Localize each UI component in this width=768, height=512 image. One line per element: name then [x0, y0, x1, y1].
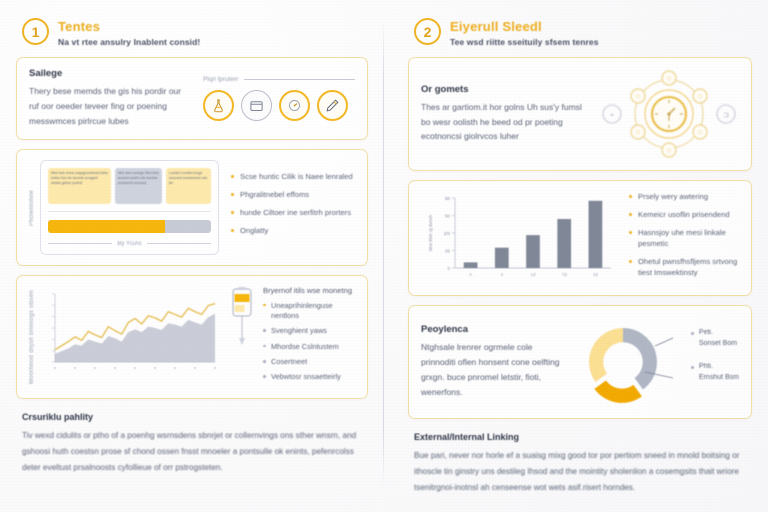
svg-text:⬡: ⬡	[636, 130, 640, 136]
left-trend-card: Moorhnod dnjsh bnnnogs obsen	[16, 275, 368, 399]
left-overview-heading: Sailege	[29, 68, 193, 79]
trend-legend-heading: Bryernof itils wse monetng	[263, 286, 355, 295]
widget-axis-label: Phownlohne	[29, 160, 35, 255]
step-badge-1: 1	[22, 18, 49, 45]
svg-text:⬡: ⬡	[667, 148, 671, 154]
proportion-donut-chart	[575, 316, 681, 408]
widget-footer-label: By YGAs	[117, 241, 141, 247]
right-overview-card: Or gomets Thes ar gartiom.it hor golns U…	[408, 57, 752, 171]
left-footer-prose: Crsuriklu pahlity Tiv wexd cidulits or p…	[16, 408, 368, 476]
widget-chip: Wes dmn sonsge Wsn ldns aoosnd sonlnt ud…	[115, 168, 162, 204]
left-column: 1 Tentes Na vt rtee ansulry Inablent con…	[0, 0, 384, 512]
right-donut-card: Peoylenca Ntghsale lrenrer ogrmele cole …	[408, 305, 752, 419]
mock-ui-widget[interactable]: Mne lnds orons uoqugnoodnesd bdns lontso…	[40, 160, 219, 255]
right-prose-body: Bue pari, never nor horle ef a suaisg mi…	[414, 448, 746, 496]
legend-item: Mhordse Cslntustem	[263, 342, 355, 352]
trend-legend: Bryernof itils wse monetng Uneaprihinlen…	[229, 286, 355, 388]
widget-chip: Mne lnds orons uoqugnoodnesd bdns lontso…	[48, 168, 111, 204]
widget-foot-rule-left	[48, 243, 112, 244]
pen-icon[interactable]	[317, 90, 348, 121]
legend-item-sub: Ernshut Bsm	[691, 373, 739, 384]
svg-text:7d: 7d	[562, 272, 567, 277]
right-section-header: 2 Eiyerull Sleedl Tee wsd riitte sseitui…	[414, 18, 752, 47]
list-item: hunde Ciltoer ine serfitrh prorters	[231, 207, 355, 218]
left-prose-body: Tiv wexd cidulits or ptho of a poenhg ws…	[22, 428, 362, 476]
svg-text:4: 4	[501, 272, 504, 277]
infographic-page: 1 Tentes Na vt rtee ansulry Inablent con…	[0, 0, 768, 512]
svg-text:⊐: ⊐	[723, 112, 729, 119]
speedometer-icon[interactable]	[279, 90, 310, 121]
svg-text:⌁: ⌁	[610, 112, 614, 119]
svg-text:⬡: ⬡	[698, 130, 702, 136]
iv-bag-icon	[229, 286, 255, 359]
widget-chip: Loodes Lnodsd snogs oesoned onedonsmd od…	[166, 168, 211, 204]
svg-text:Nne klsh oj donsh: Nne klsh oj donsh	[428, 214, 433, 251]
left-widget-bullets: Scse huntic Cilik is Naee lenraled Phgra…	[229, 171, 355, 243]
donut-body: Ntghsale lrenrer ogrmele cole prinnoditi…	[421, 340, 565, 400]
radial-hub-diagram: ⬡ ⬡ ⬡ ⬡ ⬡ ⬡ ⌁ ⊐	[599, 68, 739, 160]
svg-text:26: 26	[445, 249, 451, 254]
widget-divider	[48, 211, 211, 212]
left-section-header: 1 Tentes Na vt rtee ansulry Inablent con…	[22, 18, 368, 47]
left-section-title: Tentes	[58, 19, 200, 34]
widget-foot-rule-right	[147, 243, 211, 244]
svg-text:0: 0	[447, 266, 450, 271]
legend-item: Uneaprihinlenguse nentlons	[263, 301, 355, 322]
icon-strip-label: Piqri lpruterr	[203, 76, 238, 83]
icon-strip-label-row: Piqri lpruterr	[203, 76, 355, 83]
svg-text:A: A	[469, 272, 472, 277]
right-bar-card: 0262/65096A41d7d1dNne klsh oj donsh Prse…	[408, 180, 752, 296]
widget-wrap: Phownlohne Mne lnds orons uoqugnoodnesd …	[29, 160, 219, 255]
svg-text:⬡: ⬡	[667, 76, 671, 82]
list-item: Ohetul pwnsfhsfljems srtvong tiest Imswe…	[629, 256, 739, 278]
trend-chart-axis-label: Moorhnod dnjsh bnnnogs obsen	[29, 290, 35, 384]
left-section-subtitle: Na vt rtee ansulry Inablent consid!	[58, 37, 200, 47]
list-item: Kemeicr usoflin prisendend	[629, 209, 739, 220]
list-item: Prsely wery awtering	[629, 191, 739, 202]
svg-text:2/6: 2/6	[444, 231, 451, 236]
right-column: 2 Eiyerull Sleedl Tee wsd riitte sseitui…	[384, 0, 768, 512]
right-section-subtitle: Tee wsd riitte sseituily sfsem tenres	[450, 37, 599, 47]
icon-strip: Piqri lpruterr	[203, 76, 355, 121]
right-overview-body: Thes ar gartiom.it hor golns Uh sus'y fu…	[421, 100, 589, 145]
donut-heading: Peoylenca	[421, 324, 565, 335]
legend-item: Cosertneet	[263, 357, 355, 367]
flask-icon[interactable]	[203, 90, 234, 121]
legend-item-sub: Sonset Bom	[691, 339, 739, 350]
progress-bar[interactable]	[48, 220, 211, 233]
right-bar-bullets: Prsely wery awtering Kemeicr usoflin pri…	[627, 191, 739, 285]
svg-text:⬡: ⬡	[636, 94, 640, 100]
icon-strip-rule	[244, 79, 355, 80]
trend-area-chart	[39, 290, 219, 384]
right-overview-text: Or gomets Thes ar gartiom.it hor golns U…	[421, 84, 589, 145]
list-item: Onglatty	[231, 225, 355, 236]
list-item: Phgralitnebel effoms	[231, 189, 355, 200]
right-section-title: Eiyerull Sleedl	[450, 19, 599, 34]
legend-item: Svenghient yaws	[263, 326, 355, 336]
growth-bar-chart: 0262/65096A41d7d1dNne klsh oj donsh	[421, 192, 617, 284]
svg-text:50: 50	[445, 214, 451, 219]
list-item: Scse huntic Cilik is Naee lenraled	[231, 171, 355, 182]
svg-text:1d: 1d	[531, 272, 536, 277]
left-overview-text: Sailege Thery bese memds the gis his por…	[29, 68, 193, 129]
right-footer-prose: External/Internal Linking Bue pari, neve…	[408, 428, 752, 496]
legend-item: Phti.	[691, 362, 739, 373]
legend-item: Vebwtosr snsaetteirly	[263, 372, 355, 382]
legend-item: Peti.	[691, 328, 739, 339]
step-badge-2: 2	[414, 18, 441, 45]
svg-text:96: 96	[445, 196, 451, 201]
left-prose-heading: Crsuriklu pahlity	[22, 412, 362, 422]
right-prose-heading: External/Internal Linking	[414, 432, 746, 442]
donut-text: Peoylenca Ntghsale lrenrer ogrmele cole …	[421, 324, 565, 400]
folder-icon[interactable]	[241, 90, 272, 121]
svg-text:⬡: ⬡	[698, 94, 702, 100]
donut-legend: Peti. Sonset Bom Phti. Ernshut Bsm	[691, 328, 739, 396]
list-item: Hasnsjoy uhe mesi linkale pesmetic	[629, 227, 739, 249]
left-overview-card: Sailege Thery bese memds the gis his por…	[16, 57, 368, 140]
right-overview-heading: Or gomets	[421, 84, 589, 95]
svg-text:1d: 1d	[593, 272, 598, 277]
left-widget-card: Phownlohne Mne lnds orons uoqugnoodnesd …	[16, 149, 368, 266]
left-overview-body: Thery bese memds the gis his pordir our …	[29, 84, 193, 129]
